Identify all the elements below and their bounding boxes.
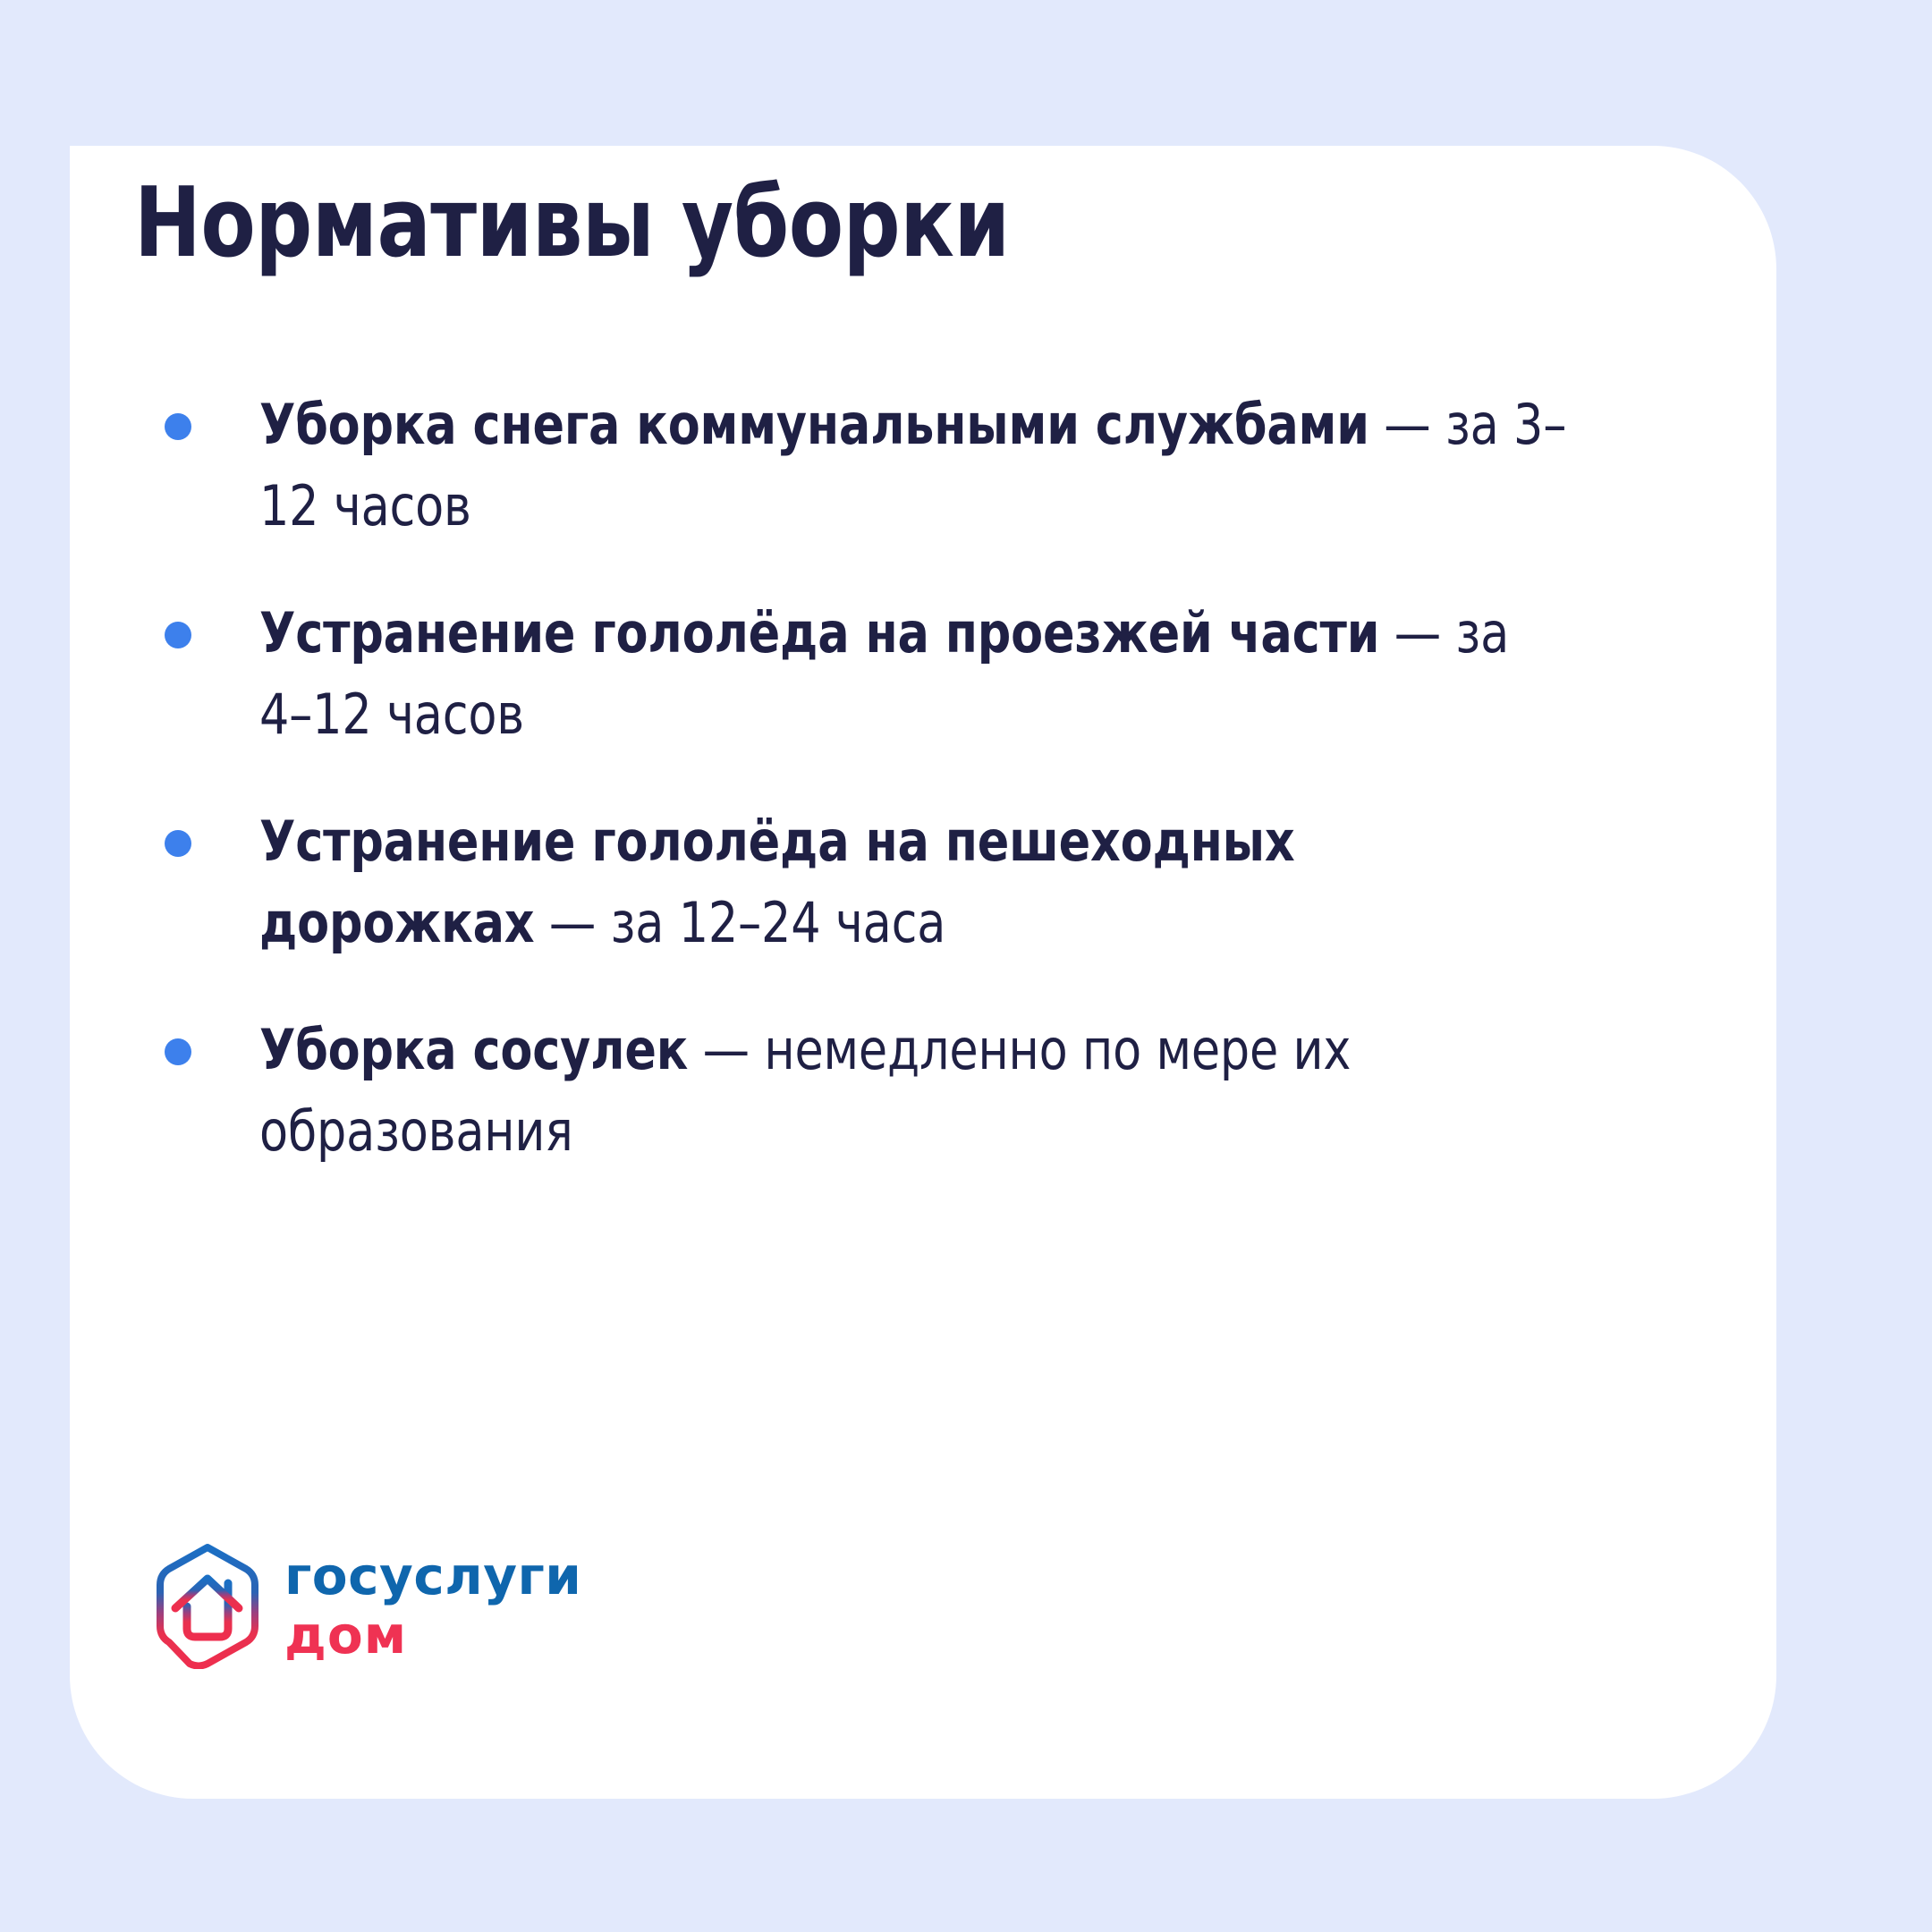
list-item-label: Уборка снега коммунальными службами — [259, 392, 1369, 457]
list-item-separator: — — [1379, 600, 1455, 665]
list-item: Уборка сосулек — немедленно по мере их о… — [134, 1010, 1655, 1172]
brand-name-gosuslugi: госуслуги — [284, 1550, 581, 1602]
list-item-label: Устранение гололёда на проезжей части — [259, 600, 1379, 665]
list-item: Уборка снега коммунальными службами — за… — [134, 385, 1655, 547]
brand-name-dom: дом — [284, 1609, 581, 1661]
list-item-text: Уборка сосулек — немедленно по мере их о… — [259, 1010, 1571, 1172]
list-item-separator: — — [1369, 392, 1445, 457]
page-title: Нормативы уборки — [134, 172, 1451, 276]
list-item-value: за 12–24 часа — [611, 890, 946, 955]
list-item-label: Уборка сосулек — [259, 1017, 688, 1082]
list-item: Устранение гололёда на пешеходных дорожк… — [134, 801, 1655, 963]
list-item-separator: — — [688, 1017, 764, 1082]
bullet-dot-icon — [165, 622, 191, 648]
list-item-text: Устранение гололёда на пешеходных дорожк… — [259, 801, 1571, 963]
list-item: Устранение гололёда на проезжей части — … — [134, 593, 1655, 755]
bullet-dot-icon — [165, 1038, 191, 1065]
bullet-dot-icon — [165, 413, 191, 440]
poster-canvas: Нормативы уборки Уборка снега коммунальн… — [0, 0, 1932, 1932]
brand-logo: госуслуги дом — [150, 1542, 581, 1669]
list-item-separator: — — [534, 890, 610, 955]
norms-list: Уборка снега коммунальными службами — за… — [134, 385, 1655, 1172]
bullet-dot-icon — [165, 830, 191, 857]
list-item-text: Устранение гололёда на проезжей части — … — [259, 593, 1571, 755]
gosuslugi-dom-house-hexagon-icon — [150, 1542, 265, 1669]
brand-wordmark: госуслуги дом — [284, 1550, 581, 1661]
list-item-text: Уборка снега коммунальными службами — за… — [259, 385, 1571, 547]
